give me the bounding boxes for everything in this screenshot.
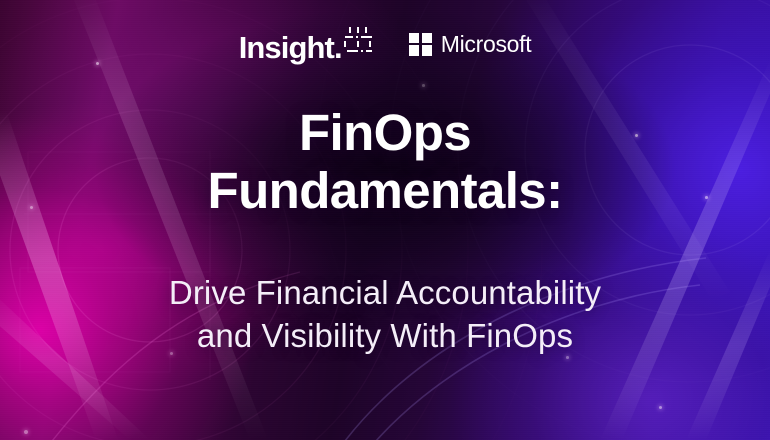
microsoft-logo: Microsoft	[409, 33, 532, 56]
insight-wordmark-period: .	[334, 30, 342, 65]
insight-wordmark-text: Insight	[239, 30, 334, 65]
microsoft-square-bottom-left	[409, 45, 419, 55]
page-title-line-1: FinOps	[208, 104, 563, 162]
card-content: Insight.	[0, 0, 770, 440]
page-title: FinOps Fundamentals:	[208, 104, 563, 220]
insight-dots-mark	[344, 27, 373, 54]
microsoft-square-top-left	[409, 33, 419, 43]
insight-logo: Insight.	[239, 26, 373, 62]
insight-wordmark: Insight.	[239, 32, 342, 63]
microsoft-wordmark: Microsoft	[441, 33, 532, 56]
page-subtitle-line-2: and Visibility With FinOps	[169, 314, 601, 357]
page-subtitle-line-1: Drive Financial Accountability	[169, 271, 601, 314]
microsoft-square-bottom-right	[422, 45, 432, 55]
microsoft-square-top-right	[422, 33, 432, 43]
microsoft-four-squares-icon	[409, 33, 432, 56]
page-subtitle: Drive Financial Accountability and Visib…	[169, 271, 601, 357]
partner-logo-bar: Insight.	[239, 26, 532, 62]
page-title-line-2: Fundamentals:	[208, 162, 563, 220]
title-card: Insight.	[0, 0, 770, 440]
